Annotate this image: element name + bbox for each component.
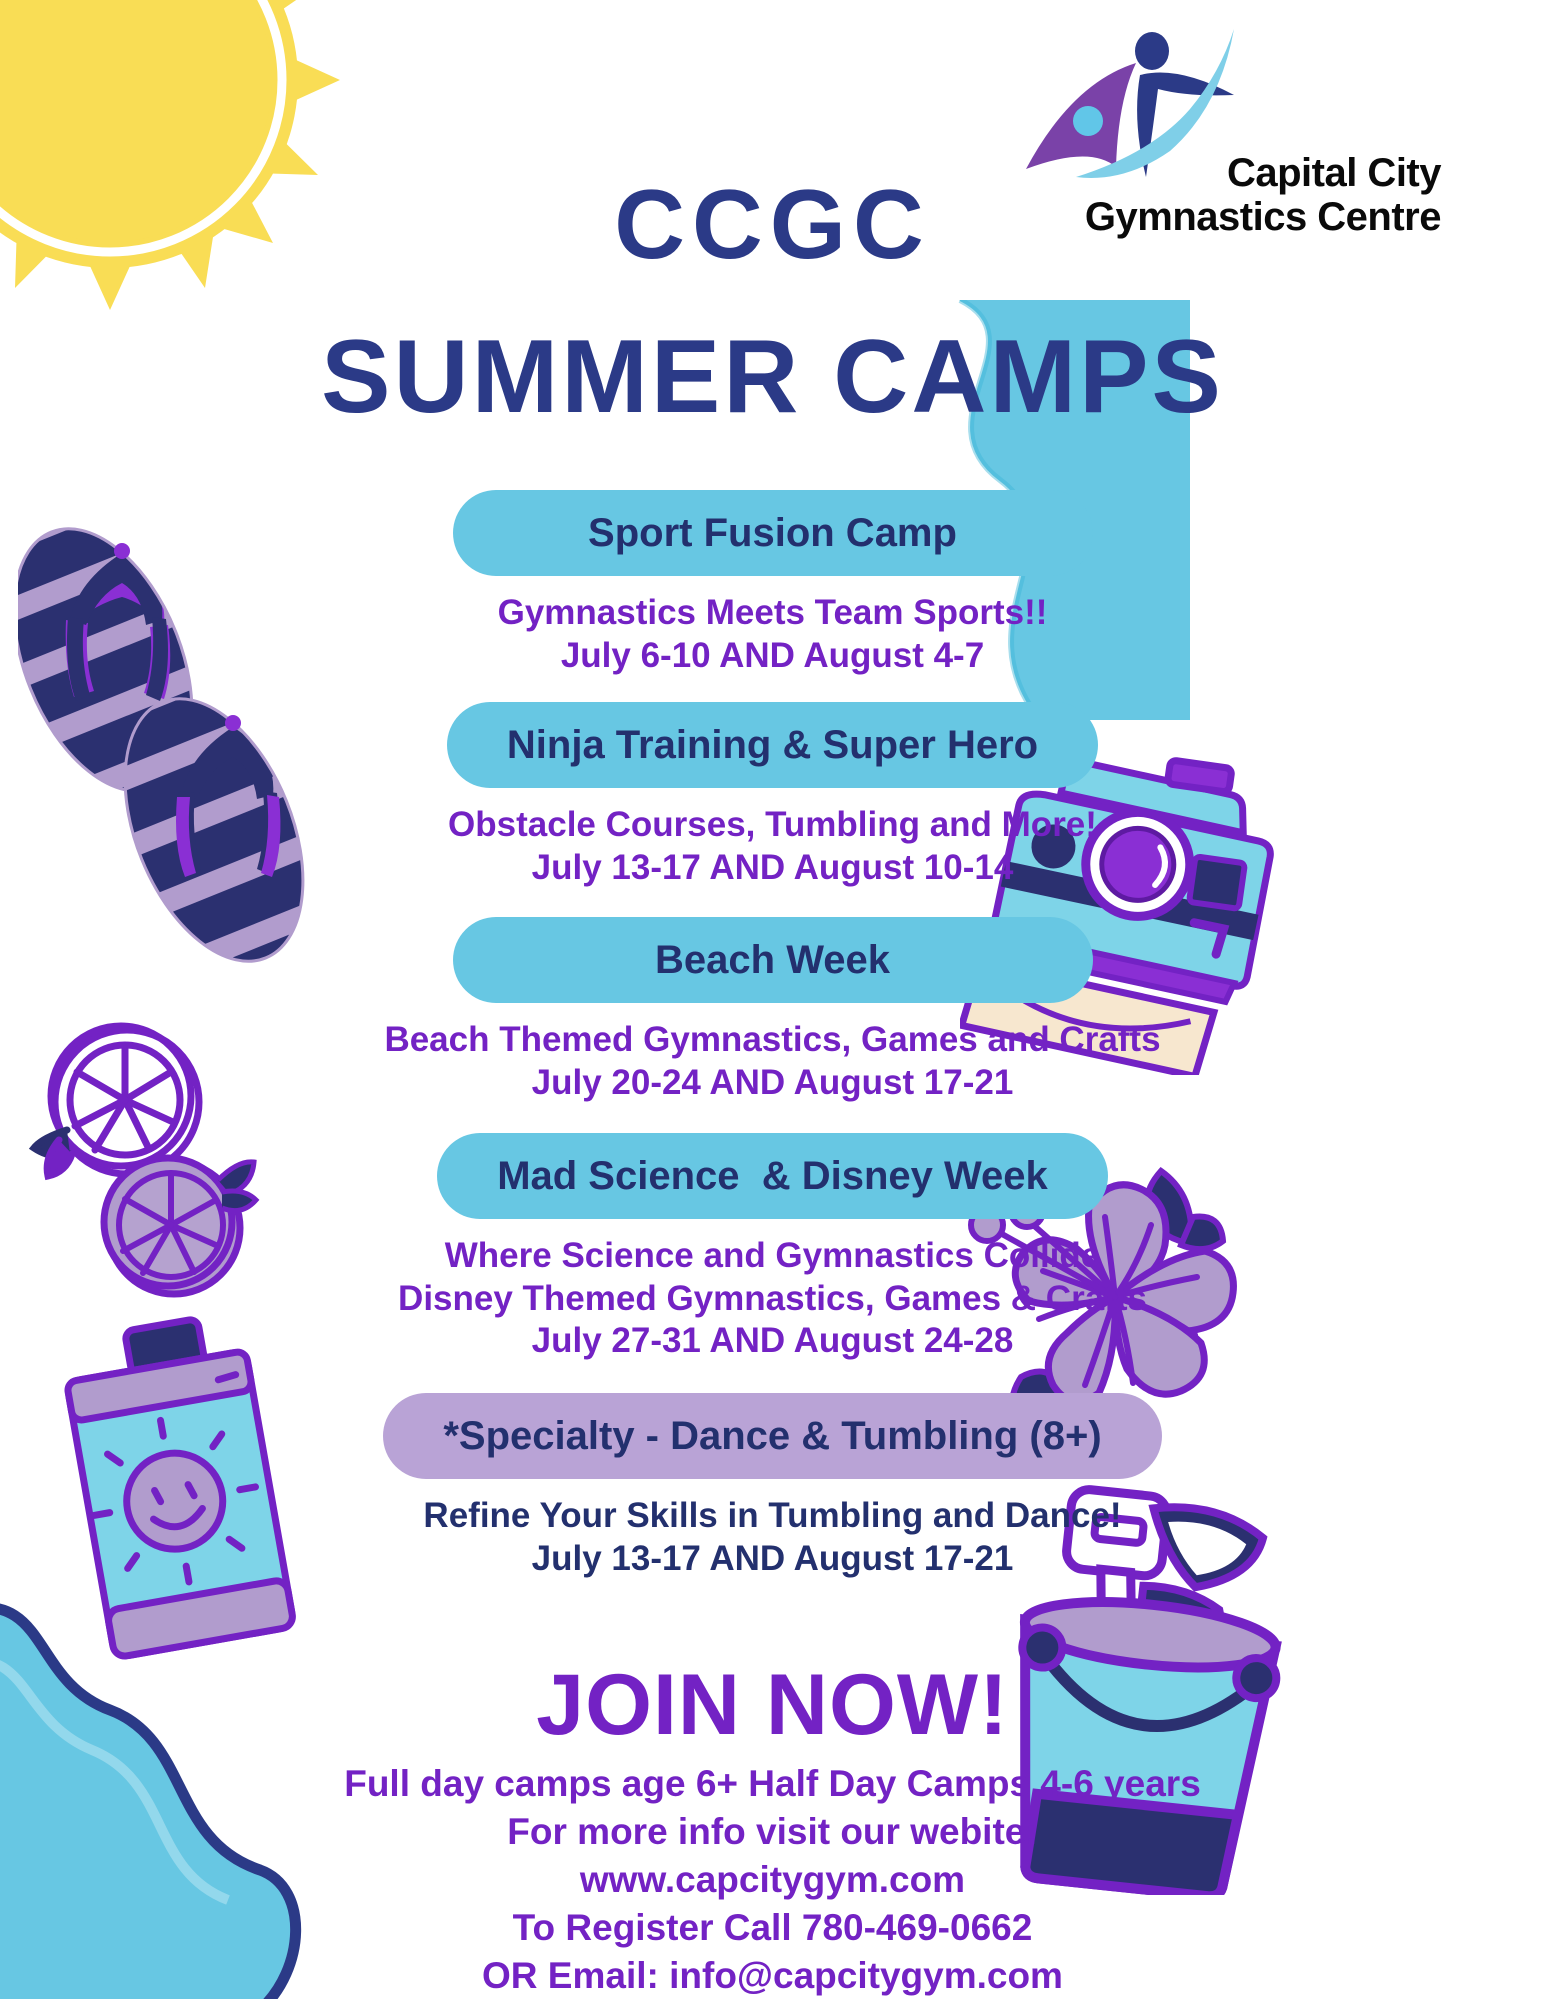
camp-description: Refine Your Skills in Tumbling and Dance… bbox=[0, 1495, 1545, 1580]
camp-name-pill[interactable]: Mad Science & Disney Week bbox=[437, 1133, 1108, 1219]
contact-info: Full day camps age 6+ Half Day Camps 4-6… bbox=[0, 1760, 1545, 1999]
flyer-content: Capital City Gymnastics Centre CCGC SUMM… bbox=[0, 0, 1545, 1999]
camp-block-beach-week: Beach Week Beach Themed Gymnastics, Game… bbox=[0, 917, 1545, 1104]
camp-name-pill[interactable]: Sport Fusion Camp bbox=[453, 490, 1093, 576]
camp-description: Beach Themed Gymnastics, Games and Craft… bbox=[0, 1019, 1545, 1104]
camp-description: Where Science and Gymnastics Collide Dis… bbox=[0, 1235, 1545, 1363]
camp-name-pill[interactable]: Ninja Training & Super Hero bbox=[447, 702, 1098, 788]
camp-name-pill[interactable]: Beach Week bbox=[453, 917, 1093, 1003]
join-now-cta[interactable]: JOIN NOW! bbox=[0, 1656, 1545, 1755]
camp-block-sport-fusion: Sport Fusion Camp Gymnastics Meets Team … bbox=[0, 490, 1545, 677]
camp-block-ninja-superhero: Ninja Training & Super Hero Obstacle Cou… bbox=[0, 702, 1545, 889]
camp-name-pill[interactable]: *Specialty - Dance & Tumbling (8+) bbox=[383, 1393, 1161, 1479]
camp-block-mad-science-disney: Mad Science & Disney Week Where Science … bbox=[0, 1133, 1545, 1363]
camp-block-specialty-dance-tumbling: *Specialty - Dance & Tumbling (8+) Refin… bbox=[0, 1393, 1545, 1580]
summer-camp-flyer: Capital City Gymnastics Centre CCGC SUMM… bbox=[0, 0, 1545, 1999]
camp-description: Gymnastics Meets Team Sports!! July 6-10… bbox=[0, 592, 1545, 677]
page-title: SUMMER CAMPS bbox=[0, 325, 1545, 429]
org-abbreviation: CCGC bbox=[0, 175, 1545, 273]
camp-description: Obstacle Courses, Tumbling and More! Jul… bbox=[0, 804, 1545, 889]
